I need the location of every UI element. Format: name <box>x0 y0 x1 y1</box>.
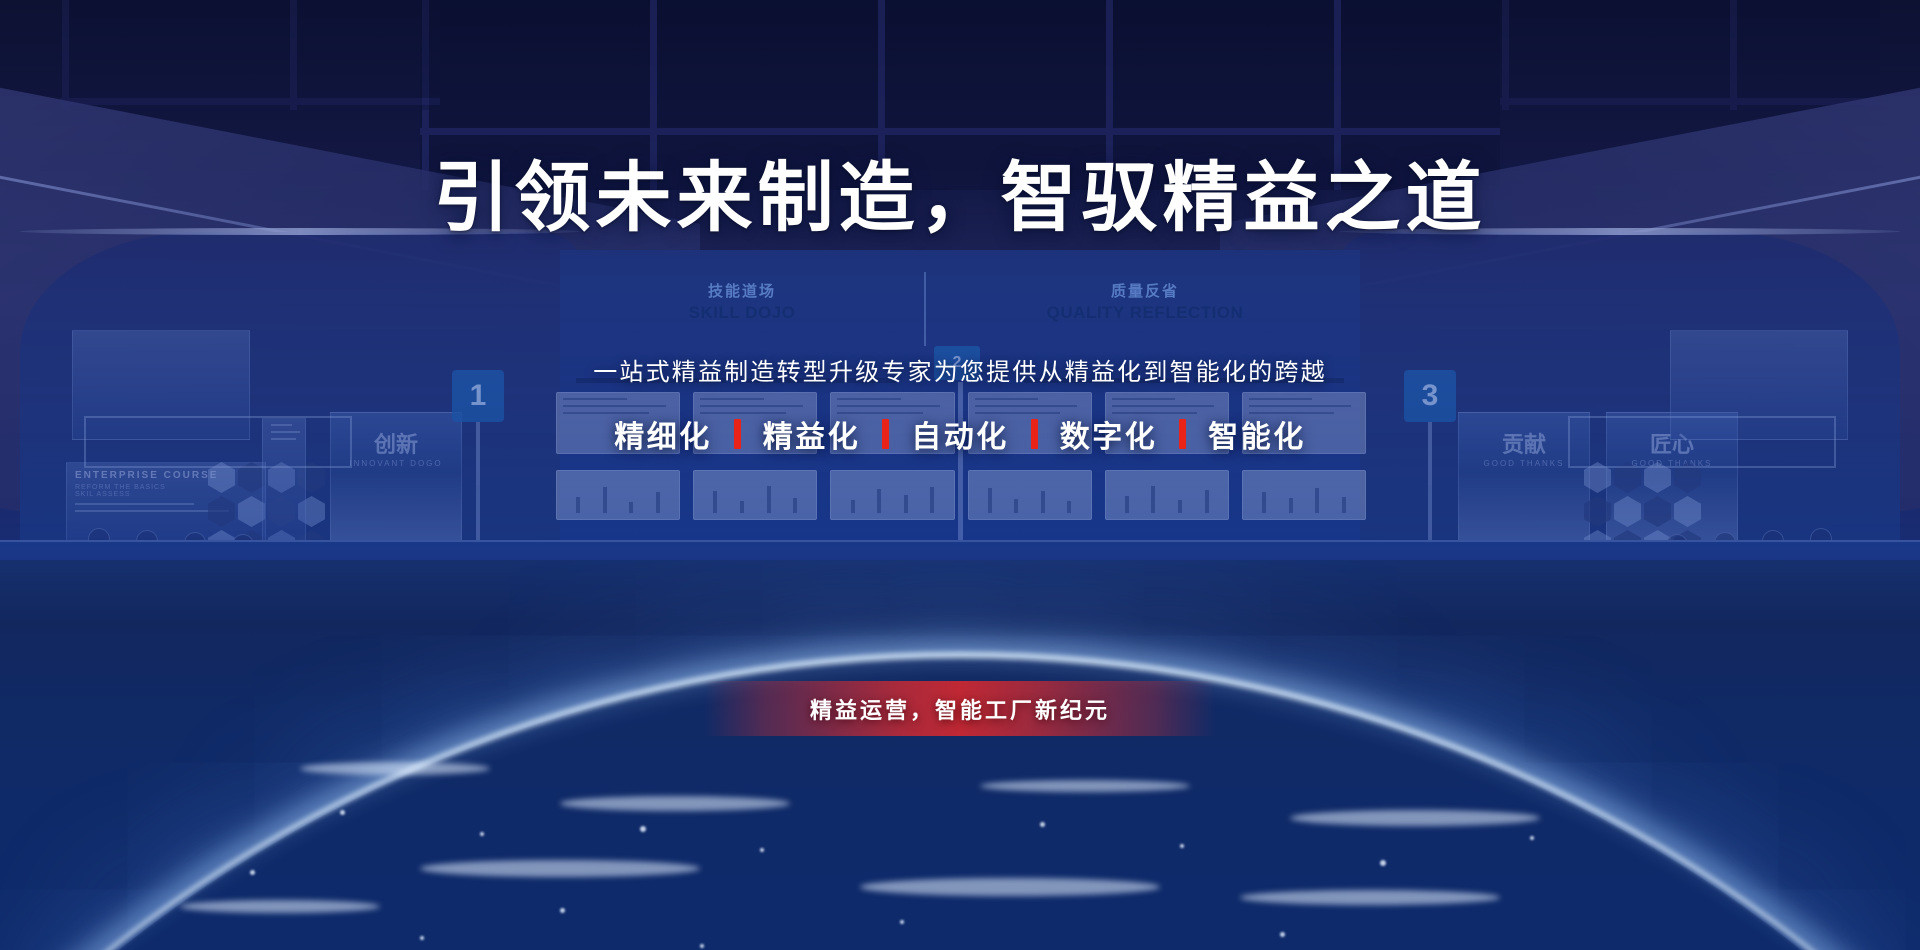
keyword-item: 智能化 <box>1208 412 1306 456</box>
city-light <box>1530 836 1534 840</box>
cloud-band <box>560 796 790 811</box>
cloud-band <box>1290 810 1540 826</box>
keyword-item: 数字化 <box>1060 412 1158 456</box>
city-light <box>250 870 255 875</box>
cloud-band <box>1240 890 1500 905</box>
keyword-separator-icon <box>1031 419 1038 449</box>
city-light <box>760 848 764 852</box>
keyword-separator-icon <box>734 419 741 449</box>
tagline-badge-text: 精益运营，智能工厂新纪元 <box>810 693 1110 725</box>
cloud-band <box>980 780 1190 792</box>
keyword-item: 自动化 <box>911 412 1009 456</box>
hero-subtitle: 一站式精益制造转型升级专家为您提供从精益化到智能化的跨越 <box>0 352 1920 387</box>
keyword-separator-icon <box>882 419 889 449</box>
keyword-separator-icon <box>1179 419 1186 449</box>
cloud-band <box>300 762 490 775</box>
city-light <box>1180 844 1184 848</box>
city-light <box>560 908 565 913</box>
city-light <box>900 920 904 924</box>
city-light <box>640 826 646 832</box>
city-light <box>340 810 345 815</box>
cloud-band <box>860 878 1160 896</box>
cloud-band <box>180 900 380 913</box>
tagline-badge: 精益运营，智能工厂新纪元 <box>704 681 1216 736</box>
city-light <box>480 832 484 836</box>
city-light <box>1380 860 1386 866</box>
keyword-item: 精细化 <box>614 412 712 456</box>
city-light <box>1040 822 1045 827</box>
city-light <box>700 944 704 948</box>
city-light <box>420 936 424 940</box>
keyword-list: 精细化 精益化 自动化 数字化 智能化 <box>0 412 1920 456</box>
cloud-band <box>420 860 700 877</box>
keyword-item: 精益化 <box>763 412 861 456</box>
city-light <box>1280 932 1285 937</box>
page-title: 引领未来制造，智驭精益之道 <box>0 136 1920 246</box>
earth-from-space <box>0 560 1920 950</box>
hero-banner: ENTERPRISE COURSE REFORM THE BASICS SKIL… <box>0 0 1920 950</box>
